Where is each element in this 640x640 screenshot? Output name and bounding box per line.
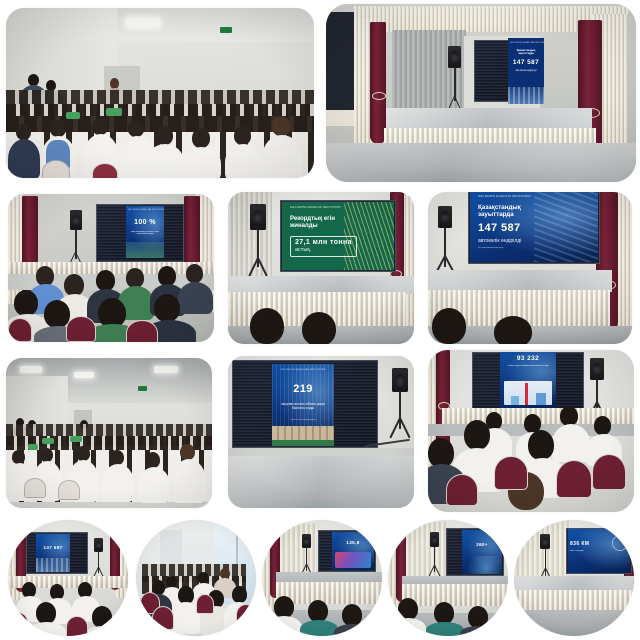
led-slide-photo-3: 2024 ЖЫЛҒЫ ҚАЗАҚСТАН ЖЕТІСТІКТЕРІ 100 % … [126, 206, 164, 258]
speaker-icon [94, 538, 103, 552]
slide-big-number: 147 587 [478, 222, 598, 235]
speaker-icon [448, 46, 461, 68]
led-slide-photo-9: 147 587 [36, 534, 70, 572]
collage-photo-12[interactable]: 260+ [388, 520, 508, 636]
slide-eyebrow: 2024 ЖЫЛҒЫ ҚАЗАҚСТАН ЖЕТІСТІКТЕРІ [510, 43, 542, 45]
collage-photo-9[interactable]: 147 587 [8, 520, 128, 636]
speaker-icon [392, 368, 408, 392]
led-slide-photo-11: 135,8 [332, 532, 374, 570]
slide-big-number: 100 % [128, 219, 162, 227]
collage-photo-1[interactable] [6, 8, 314, 178]
slide-big-number: 135,8 [333, 540, 373, 545]
slide-head: Қазақстандық зауыттарда [510, 49, 542, 55]
slide-eyebrow: 2024 ЖЫЛҒЫ ҚАЗАҚСТАН ЖЕТІСТІКТЕРІ [128, 210, 162, 212]
slide-head: Қазақстандық зауыттарда [478, 204, 532, 218]
speaker-icon [70, 210, 82, 230]
led-slide-photo-4: 2024 ЖЫЛҒЫ ҚАЗАҚСТАН ЖЕТІСТІКТЕРІ Рекорд… [282, 202, 394, 270]
ceiling-light-icon [74, 372, 94, 378]
collage-photo-2[interactable]: 2024 ЖЫЛҒЫ ҚАЗАҚСТАН ЖЕТІСТІКТЕРІ Қазақс… [326, 4, 636, 182]
slide-big-number: 93 232 [502, 355, 554, 362]
led-slide-photo-12: 260+ [462, 530, 502, 574]
collage-photo-6[interactable] [6, 358, 212, 508]
speaker-icon [250, 204, 266, 230]
collage-photo-11[interactable]: 135,8 [262, 520, 382, 636]
ceiling-light-icon [154, 366, 178, 373]
collage-photo-5[interactable]: 2024 ЖЫЛҒЫ ҚАЗАҚСТАН ЖЕТІСТІКТЕРІ Қазақс… [428, 192, 632, 344]
slide-big-number: 219 [275, 383, 331, 396]
slide-sub: жол салынды [570, 550, 628, 553]
slide-head: Рекордтық егін жиналды [290, 216, 350, 230]
speaker-icon [430, 532, 439, 547]
led-slide-photo-7: 2024 ЖЫЛҒЫ ҚАЗАҚСТАН ЖЕТІСТІКТЕРІ 219 мы… [272, 364, 334, 446]
ceiling-light-icon [20, 366, 42, 373]
slide-eyebrow: 2024 ЖЫЛҒЫ ҚАЗАҚСТАН ЖЕТІСТІКТЕРІ [275, 369, 331, 371]
slide-big-number: 147 587 [37, 545, 69, 550]
led-slide-photo-13: 836 КМ жол салынды [568, 529, 630, 573]
led-slide-photo-5: 2024 ЖЫЛҒЫ ҚАЗАҚСТАН ЖЕТІСТІКТЕРІ Қазақс… [470, 192, 598, 262]
led-slide-photo-8: 93 232 отбасы тұрғын үймен қамтамасыз ет… [500, 352, 556, 408]
collage-photo-4[interactable]: 2024 ЖЫЛҒЫ ҚАЗАҚСТАН ЖЕТІСТІКТЕРІ Рекорд… [228, 192, 414, 344]
slide-big-number: 260+ [463, 542, 501, 547]
slide-sub: елді мекендер сапалы ауыз сумен қамтылды [128, 231, 162, 236]
slide-sub: автокөлік өндірілді [510, 70, 542, 73]
speaker-icon [540, 534, 550, 549]
slide-sub: мыңнан астам отбасы жаңа баспана алды [275, 403, 331, 411]
speaker-icon [438, 206, 452, 228]
exit-sign-icon [138, 386, 147, 391]
collage-photo-8[interactable]: 93 232 отбасы тұрғын үймен қамтамасыз ет… [428, 350, 634, 512]
slide-foot: Ел экономикасының өсуі [478, 247, 598, 250]
slide-sub: автокөлік өндірілді [478, 239, 598, 245]
slide-big-number: 147 587 [510, 59, 542, 66]
collage-photo-3[interactable]: 2024 ЖЫЛҒЫ ҚАЗАҚСТАН ЖЕТІСТІКТЕРІ 100 % … [8, 194, 214, 342]
slide-sub: астық. [295, 247, 352, 253]
collage-photo-10[interactable] [136, 520, 256, 636]
speaker-icon [302, 534, 311, 548]
slide-sub: отбасы тұрғын үймен қамтамасыз етілді [502, 365, 554, 368]
photo-collage: 2024 ЖЫЛҒЫ ҚАЗАҚСТАН ЖЕТІСТІКТЕРІ Қазақс… [0, 0, 640, 640]
exit-sign-icon [220, 27, 232, 33]
collage-photo-7[interactable]: 2024 ЖЫЛҒЫ ҚАЗАҚСТАН ЖЕТІСТІКТЕРІ 219 мы… [228, 356, 414, 508]
slide-eyebrow: 2024 ЖЫЛҒЫ ҚАЗАҚСТАН ЖЕТІСТІКТЕРІ [290, 207, 394, 210]
ceiling-light-icon [126, 18, 160, 27]
collage-photo-13[interactable]: 836 КМ жол салынды [514, 520, 634, 636]
slide-foot: Тұрғын үй бағдарламасы [275, 419, 331, 422]
speaker-icon [590, 358, 604, 380]
led-slide-photo-2: 2024 ЖЫЛҒЫ ҚАЗАҚСТАН ЖЕТІСТІКТЕРІ Қазақс… [508, 38, 544, 104]
slide-big-number: 27,1 млн тонна [295, 239, 352, 247]
slide-eyebrow: 2024 ЖЫЛҒЫ ҚАЗАҚСТАН ЖЕТІСТІКТЕРІ [478, 196, 598, 199]
